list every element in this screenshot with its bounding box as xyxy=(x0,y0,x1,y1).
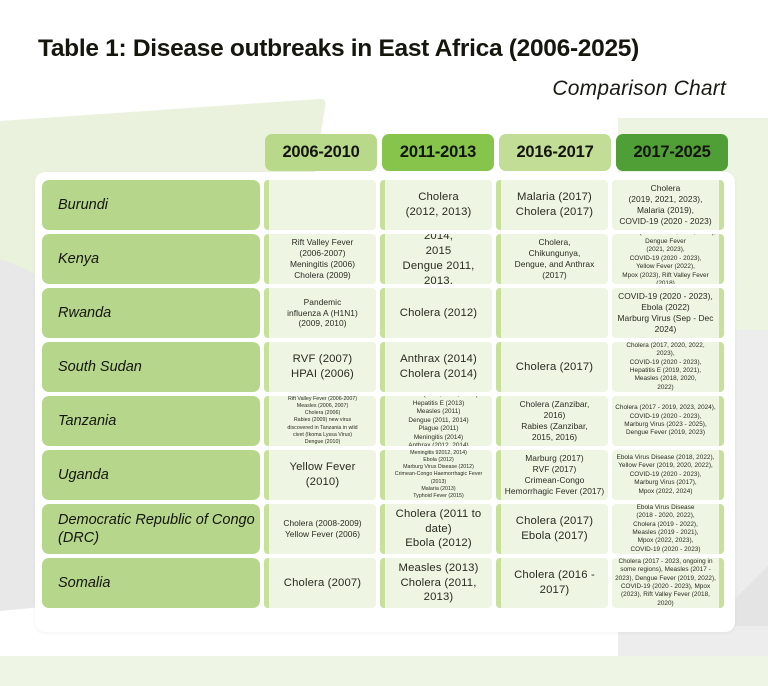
outbreak-cell-text: RVF (2007) HPAI (2006) xyxy=(272,352,373,382)
outbreak-cell: RVF (2007) HPAI (2006) xyxy=(264,342,376,392)
outbreak-cell: Cholera (2011 to date) Ebola (2012) xyxy=(380,504,492,554)
table-row: South SudanRVF (2007) HPAI (2006)Anthrax… xyxy=(42,342,728,392)
country-label: Democratic Republic of Congo (DRC) xyxy=(42,504,260,554)
outbreak-cell-text: Cholera (2012, 2013, 2015) Hepatitis E (… xyxy=(388,396,489,446)
outbreak-cell: Rift Valley Fever (2006-2007) Meningitis… xyxy=(264,234,376,284)
outbreak-cell-text: Ebola Virus Disease (2018, 2022), Yellow… xyxy=(615,454,716,496)
country-label: Burundi xyxy=(42,180,260,230)
country-label: South Sudan xyxy=(42,342,260,392)
country-label: Somalia xyxy=(42,558,260,608)
outbreak-cell: Cholera, Chikungunya, Dengue, and Anthra… xyxy=(496,234,608,284)
outbreak-cell-text: Pandemic influenza A (H1N1) (2009, 2010) xyxy=(272,297,373,330)
table-row: BurundiCholera (2012, 2013)Malaria (2017… xyxy=(42,180,728,230)
country-label: Uganda xyxy=(42,450,260,500)
column-header-2016-2017: 2016-2017 xyxy=(499,134,611,171)
outbreak-cell: Meningitis 92012, 2014) Ebola (2012) Mar… xyxy=(380,450,492,500)
outbreak-cell: Malaria (2017) Cholera (2017) xyxy=(496,180,608,230)
page-title: Table 1: Disease outbreaks in East Afric… xyxy=(0,0,768,63)
outbreak-cell: Cholera (2016 - 2017) xyxy=(496,558,608,608)
outbreak-cell-text: Ebola Virus Disease (2018 - 2020, 2022),… xyxy=(615,504,716,554)
outbreak-cell: Cholera (2017 - 2019, 2023, 2024), COVID… xyxy=(612,396,724,446)
outbreak-cell: Measles (2013) Cholera (2011, 2013) xyxy=(380,558,492,608)
outbreak-cell: Cholera (2017, 2020, 2022, 2023), COVID-… xyxy=(612,342,724,392)
outbreak-cell: Cholera (2012, 2013, 2015) Hepatitis E (… xyxy=(380,396,492,446)
outbreak-cell-text: Cholera, Chikungunya, Dengue, and Anthra… xyxy=(504,237,605,281)
outbreak-cell-text: Cholera (2017 - 2023, ongoing in some re… xyxy=(615,558,716,608)
table-row: RwandaPandemic influenza A (H1N1) (2009,… xyxy=(42,288,728,338)
outbreak-cell-text: Malaria (2017) Cholera (2017) xyxy=(504,190,605,220)
outbreak-cell-text: Cholera (2017) Ebola (2017) xyxy=(504,514,605,544)
outbreak-cell-text: Cholera (2008-2009) Yellow Fever (2006) xyxy=(272,518,373,540)
outbreak-cell: Cholera (2019, 2021, 2023), Malaria (201… xyxy=(612,180,724,230)
outbreak-cell-text: Measles (2013) Cholera (2011, 2013) xyxy=(388,561,489,606)
outbreak-cell: Cholera (2017) xyxy=(496,342,608,392)
outbreak-cell-text: Yellow Fever (2010) xyxy=(272,460,373,490)
outbreak-cell-text: Cholera (Zanzibar, 2016) Rabies (Zanziba… xyxy=(504,399,605,443)
outbreak-cell: Cholera (Zanzibar, 2016) Rabies (Zanziba… xyxy=(496,396,608,446)
outbreak-cell-text: Cholera (2007) xyxy=(272,576,373,591)
outbreak-cell-text: Cholera (2011 to date) Ebola (2012) xyxy=(388,507,489,552)
outbreak-cell: Pandemic influenza A (H1N1) (2009, 2010) xyxy=(264,288,376,338)
outbreak-cell: Yellow Fever (2010) xyxy=(264,450,376,500)
outbreak-cell: Cholera (2012, 2013) xyxy=(380,180,492,230)
outbreak-cell-text: Cholera (2016 - 2017) xyxy=(504,568,605,598)
outbreak-cell: Ebola Virus Disease (2018, 2022), Yellow… xyxy=(612,450,724,500)
comparison-table: 2006-2010 2011-2013 2016-2017 2017-2025 … xyxy=(35,172,735,616)
outbreak-cell: Cholera (2017 - 2018, 2019, 2023), Dengu… xyxy=(612,234,724,284)
outbreak-cell: Anthrax (2014) Cholera (2014) xyxy=(380,342,492,392)
outbreak-cell: Cholera (2008-2009) Yellow Fever (2006) xyxy=(264,504,376,554)
country-label: Rwanda xyxy=(42,288,260,338)
outbreak-cell xyxy=(496,288,608,338)
outbreak-cell-text: Cholera (2017 - 2019, 2023, 2024), COVID… xyxy=(615,404,716,438)
outbreak-cell-text: Rift Valley Fever (2006-2007) Measles (2… xyxy=(272,396,373,446)
page-header: Table 1: Disease outbreaks in East Afric… xyxy=(0,0,768,101)
country-label: Tanzania xyxy=(42,396,260,446)
outbreak-cell-text: COVID-19 (2020 - 2023), Ebola (2022) Mar… xyxy=(615,291,716,335)
column-header-2017-2025: 2017-2025 xyxy=(616,134,728,171)
table-header-row: 2006-2010 2011-2013 2016-2017 2017-2025 xyxy=(265,134,728,171)
column-header-2006-2010: 2006-2010 xyxy=(265,134,377,171)
outbreak-cell-text: Cholera (2019, 2021, 2023), Malaria (201… xyxy=(615,183,716,227)
outbreak-cell-text: Meningitis 92012, 2014) Ebola (2012) Mar… xyxy=(388,450,489,500)
page-subtitle: Comparison Chart xyxy=(0,63,768,101)
outbreak-cell: Cholera 2010, 2014, 2015 Dengue 2011, 20… xyxy=(380,234,492,284)
outbreak-cell xyxy=(264,180,376,230)
table-row: Democratic Republic of Congo (DRC)Choler… xyxy=(42,504,728,554)
background-bottom-green-bar xyxy=(0,656,768,686)
outbreak-cell: Cholera (2017) Ebola (2017) xyxy=(496,504,608,554)
table-row: SomaliaCholera (2007)Measles (2013) Chol… xyxy=(42,558,728,608)
outbreak-cell: Cholera (2007) xyxy=(264,558,376,608)
outbreak-cell: Marburg (2017) RVF (2017) Crimean-Congo … xyxy=(496,450,608,500)
table-row: KenyaRift Valley Fever (2006-2007) Menin… xyxy=(42,234,728,284)
outbreak-cell-text: Cholera (2012) xyxy=(388,306,489,321)
column-header-2011-2013: 2011-2013 xyxy=(382,134,494,171)
outbreak-cell-text: Cholera 2010, 2014, 2015 Dengue 2011, 20… xyxy=(388,234,489,284)
table-body: BurundiCholera (2012, 2013)Malaria (2017… xyxy=(35,172,735,616)
outbreak-cell: Rift Valley Fever (2006-2007) Measles (2… xyxy=(264,396,376,446)
outbreak-cell: COVID-19 (2020 - 2023), Ebola (2022) Mar… xyxy=(612,288,724,338)
outbreak-cell-text: Cholera (2017) xyxy=(504,360,605,375)
outbreak-cell-text: Cholera (2017, 2020, 2022, 2023), COVID-… xyxy=(615,342,716,392)
outbreak-cell: Cholera (2017 - 2023, ongoing in some re… xyxy=(612,558,724,608)
outbreak-cell-text: Rift Valley Fever (2006-2007) Meningitis… xyxy=(272,237,373,281)
table-row: TanzaniaRift Valley Fever (2006-2007) Me… xyxy=(42,396,728,446)
outbreak-cell-text: Cholera (2012, 2013) xyxy=(388,190,489,220)
outbreak-cell: Ebola Virus Disease (2018 - 2020, 2022),… xyxy=(612,504,724,554)
country-label: Kenya xyxy=(42,234,260,284)
table-row: UgandaYellow Fever (2010)Meningitis 9201… xyxy=(42,450,728,500)
outbreak-cell-text: Marburg (2017) RVF (2017) Crimean-Congo … xyxy=(504,453,605,497)
outbreak-cell-text: Anthrax (2014) Cholera (2014) xyxy=(388,352,489,382)
outbreak-cell: Cholera (2012) xyxy=(380,288,492,338)
outbreak-cell-text: Cholera (2017 - 2018, 2019, 2023), Dengu… xyxy=(615,234,716,284)
